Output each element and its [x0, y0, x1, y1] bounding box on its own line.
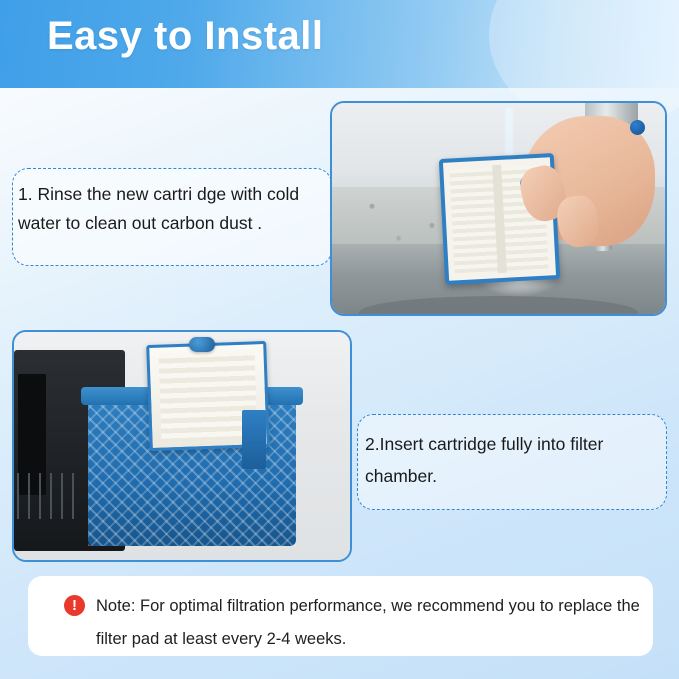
photo1-sink-basin	[359, 296, 639, 316]
step-1-text: 1. Rinse the new cartri dge with cold wa…	[18, 180, 323, 238]
photo1-cartridge-slot	[492, 164, 506, 273]
note-text: Note: For optimal filtration performance…	[96, 590, 656, 656]
header-banner: Easy to Install	[0, 0, 679, 88]
step-2-text: 2.Insert cartridge fully into filter cha…	[365, 428, 665, 492]
step-1-photo	[330, 101, 667, 316]
photo2-pad-knob	[189, 337, 215, 352]
photo2-blue-tab	[242, 410, 266, 469]
page-title: Easy to Install	[47, 14, 323, 59]
note-bar: ! Note: For optimal filtration performan…	[28, 576, 653, 656]
photo1-blue-dot-marker	[630, 120, 645, 135]
exclamation-icon: !	[64, 595, 85, 616]
photo2-comb-teeth	[17, 473, 77, 519]
product-instruction-graphic: Easy to Install 1. Rinse the new cartri …	[0, 0, 679, 679]
step-2-photo	[12, 330, 352, 562]
